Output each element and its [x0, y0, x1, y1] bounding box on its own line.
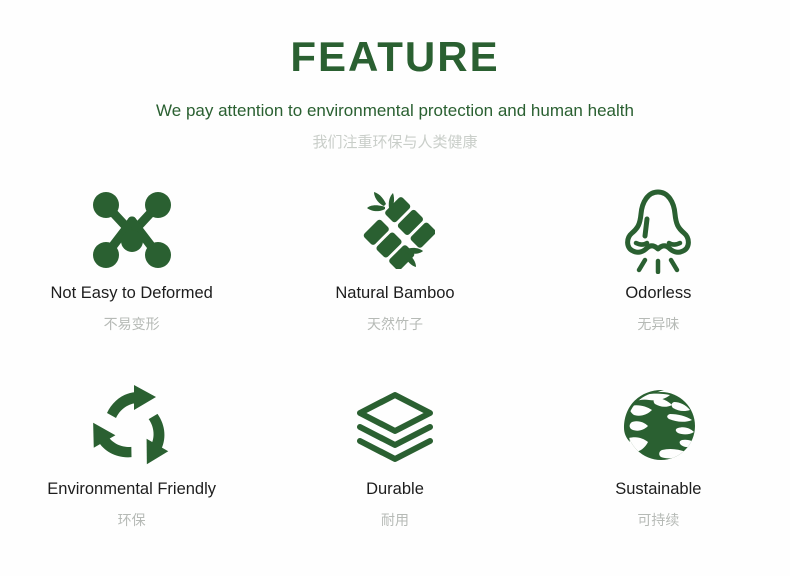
feature-grid: Not Easy to Deformed 不易变形 — [0, 174, 790, 566]
feature-item-sustainable: Sustainable 可持续 — [527, 370, 790, 566]
feature-section: FEATURE We pay attention to environmenta… — [0, 0, 790, 576]
feature-label-chinese: 环保 — [118, 512, 146, 529]
feature-label-english: Sustainable — [615, 480, 701, 500]
molecule-nodes-icon — [92, 178, 172, 282]
section-header: FEATURE We pay attention to environmenta… — [0, 0, 790, 152]
globe-leaf-icon — [616, 374, 700, 478]
layers-icon — [352, 374, 438, 478]
feature-label-english: Durable — [366, 480, 424, 500]
subtitle-chinese: 我们注重环保与人类健康 — [0, 134, 790, 152]
nose-icon — [618, 178, 698, 282]
feature-item-not-easy-to-deformed: Not Easy to Deformed 不易变形 — [0, 174, 263, 370]
feature-item-odorless: Odorless 无异味 — [527, 174, 790, 370]
feature-label-chinese: 无异味 — [637, 316, 679, 333]
feature-label-english: Environmental Friendly — [47, 480, 216, 500]
feature-item-environmental-friendly: Environmental Friendly 环保 — [0, 370, 263, 566]
page-title: FEATURE — [0, 34, 790, 79]
feature-item-durable: Durable 耐用 — [263, 370, 526, 566]
feature-label-chinese: 可持续 — [637, 512, 679, 529]
recycle-icon — [90, 374, 174, 478]
feature-label-chinese: 耐用 — [381, 512, 409, 529]
feature-label-english: Odorless — [625, 284, 691, 304]
feature-label-chinese: 不易变形 — [104, 316, 160, 333]
feature-item-natural-bamboo: Natural Bamboo 天然竹子 — [263, 174, 526, 370]
feature-label-english: Not Easy to Deformed — [51, 284, 213, 304]
bamboo-icon — [355, 178, 435, 282]
feature-label-chinese: 天然竹子 — [367, 316, 423, 333]
subtitle-english: We pay attention to environmental protec… — [0, 101, 790, 121]
feature-label-english: Natural Bamboo — [335, 284, 454, 304]
